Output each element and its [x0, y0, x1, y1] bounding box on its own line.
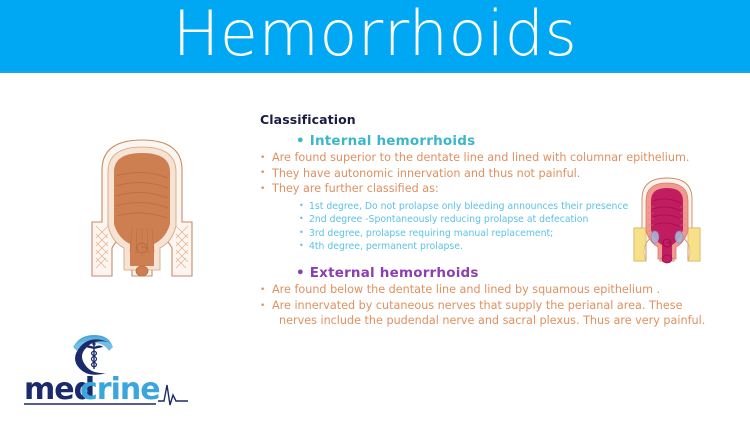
subhead-internal-label: Internal hemorrhoids	[310, 133, 476, 149]
list-item: Are found below the dentate line and lin…	[258, 283, 728, 298]
medcrine-logo: med crine	[22, 333, 192, 413]
list-item-line1: Are innervated by cutaneous nerves that …	[272, 299, 682, 312]
subhead-external-hemorrhoids: • External hemorrhoids	[296, 265, 728, 281]
classification-heading: Classification	[260, 112, 728, 127]
content-body: Classification • Internal hemorrhoids Ar…	[258, 112, 728, 329]
list-item: Are found superior to the dentate line a…	[258, 151, 728, 166]
internal-degree-list: 1st degree, Do not prolapse only bleedin…	[258, 200, 728, 254]
anal-canal-cross-section-sepia-figure	[80, 130, 204, 285]
medcrine-wordmark-svg: med crine	[22, 375, 192, 409]
list-item-line2: nerves include the pudendal nerve and sa…	[272, 314, 728, 329]
page-title: Hemorrhoids	[0, 0, 750, 70]
list-item: 1st degree, Do not prolapse only bleedin…	[298, 200, 728, 213]
slide-canvas: Hemorrhoids	[0, 0, 750, 422]
caduceus-icon	[64, 333, 120, 377]
medcrine-logo-mark	[64, 333, 120, 377]
list-item: They are further classified as:	[258, 182, 728, 197]
list-item: 3rd degree, prolapse requiring manual re…	[298, 227, 728, 240]
medcrine-wordmark: med crine	[22, 375, 192, 409]
list-item: They have autonomic innervation and thus…	[258, 167, 728, 182]
subhead-external-label: External hemorrhoids	[310, 265, 479, 281]
external-bullet-list: Are found below the dentate line and lin…	[258, 283, 728, 328]
header-band-edge	[0, 71, 750, 73]
ecg-pulse-icon	[158, 385, 188, 405]
logo-word-crine: crine	[80, 375, 160, 407]
internal-bullet-list: Are found superior to the dentate line a…	[258, 151, 728, 197]
list-item: Are innervated by cutaneous nerves that …	[258, 299, 728, 328]
list-item: 2nd degree -Spontaneously reducing prola…	[298, 213, 728, 226]
list-item: 4th degree, permanent prolapse.	[298, 240, 728, 253]
subhead-internal-hemorrhoids: • Internal hemorrhoids	[296, 133, 728, 149]
anal-canal-sepia-icon	[80, 130, 204, 285]
